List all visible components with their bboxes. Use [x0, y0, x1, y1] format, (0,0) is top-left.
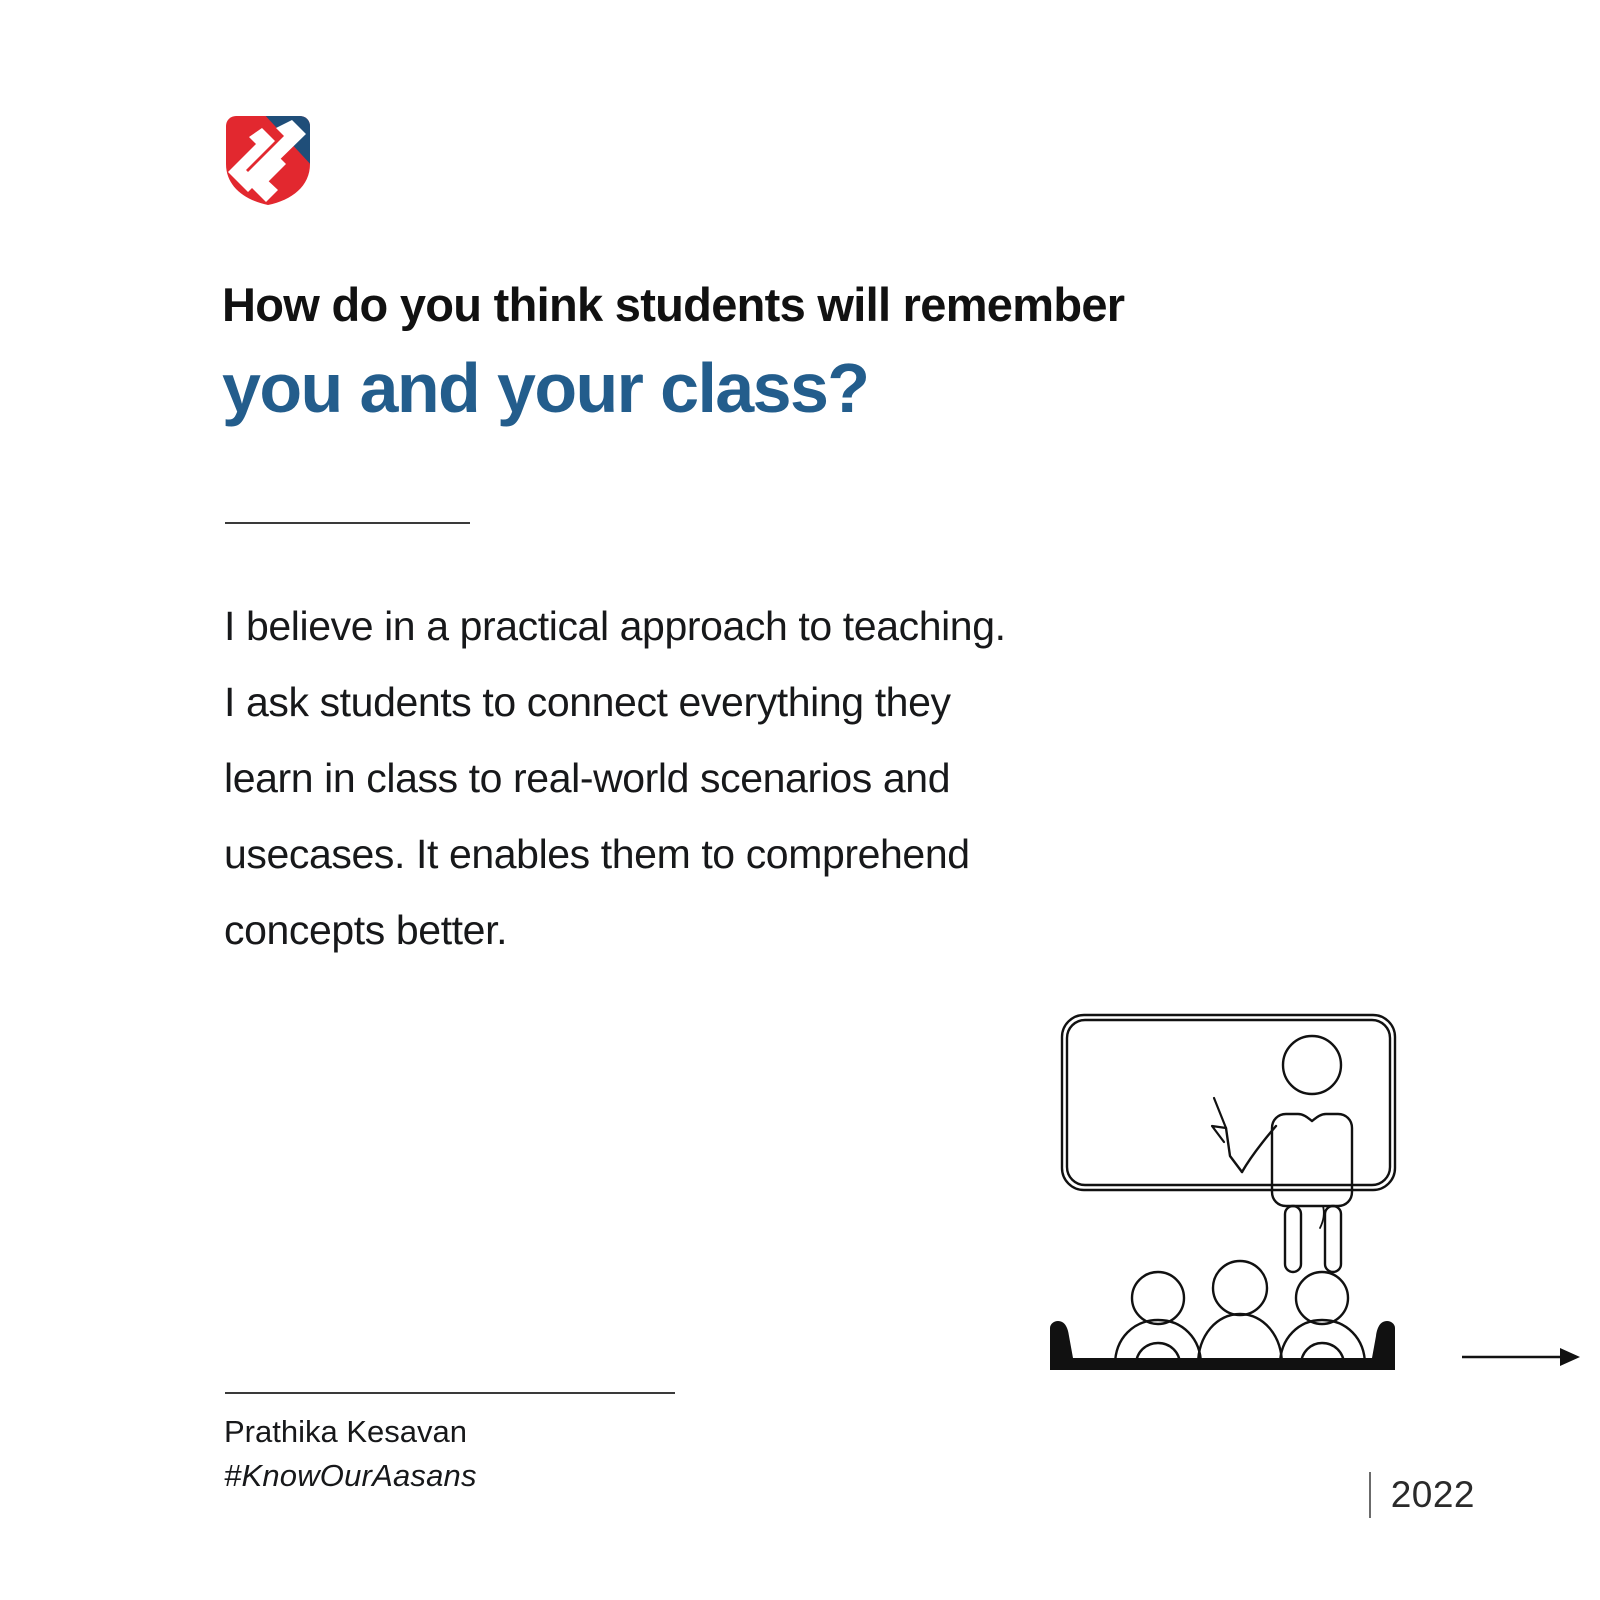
teacher-leg-right [1325, 1206, 1341, 1272]
footer-divider [225, 1392, 675, 1394]
answer-line: usecases. It enables them to comprehend [224, 816, 1234, 892]
teacher-torso [1272, 1114, 1352, 1206]
headline-divider [225, 522, 470, 524]
whiteboard-outer [1062, 1015, 1395, 1190]
answer-line: concepts better. [224, 892, 1234, 968]
answer-line: I believe in a practical approach to tea… [224, 588, 1234, 664]
student-head [1296, 1272, 1348, 1324]
pointer-hand [1212, 1126, 1226, 1142]
classroom-illustration-icon [1040, 980, 1410, 1390]
headline-line-1: How do you think students will remember [222, 276, 1282, 334]
student-head [1132, 1272, 1184, 1324]
whiteboard-inner [1067, 1020, 1390, 1185]
teacher-coat-crease [1320, 1206, 1324, 1228]
classroom-teaching-illustration [1040, 980, 1410, 1390]
teacher-head [1283, 1036, 1341, 1094]
headline-line-2: you and your class? [222, 342, 1282, 434]
teacher-forearm [1226, 1128, 1242, 1172]
classroom-desk [1050, 1321, 1395, 1370]
next-slide-arrow[interactable] [1462, 1343, 1580, 1371]
shield-icon [222, 112, 314, 208]
campaign-hashtag: #KnowOurAasans [224, 1454, 824, 1498]
arrow-right-icon [1462, 1343, 1580, 1371]
social-card: How do you think students will remember … [0, 0, 1600, 1600]
answer-paragraph: I believe in a practical approach to tea… [224, 588, 1234, 968]
student-body [1198, 1314, 1282, 1365]
institution-shield-logo[interactable] [222, 112, 314, 208]
year-divider [1369, 1472, 1371, 1518]
answer-line: learn in class to real-world scenarios a… [224, 740, 1234, 816]
answer-line: I ask students to connect everything the… [224, 664, 1234, 740]
page-title: How do you think students will remember … [222, 276, 1282, 434]
pointer-stick [1214, 1098, 1226, 1128]
year-label: 2022 [1391, 1474, 1475, 1516]
year-badge: 2022 [1369, 1472, 1475, 1518]
student-head [1213, 1261, 1267, 1315]
teacher-leg-left [1285, 1206, 1301, 1272]
author-name: Prathika Kesavan [224, 1410, 824, 1454]
author-credit: Prathika Kesavan #KnowOurAasans [224, 1410, 824, 1498]
